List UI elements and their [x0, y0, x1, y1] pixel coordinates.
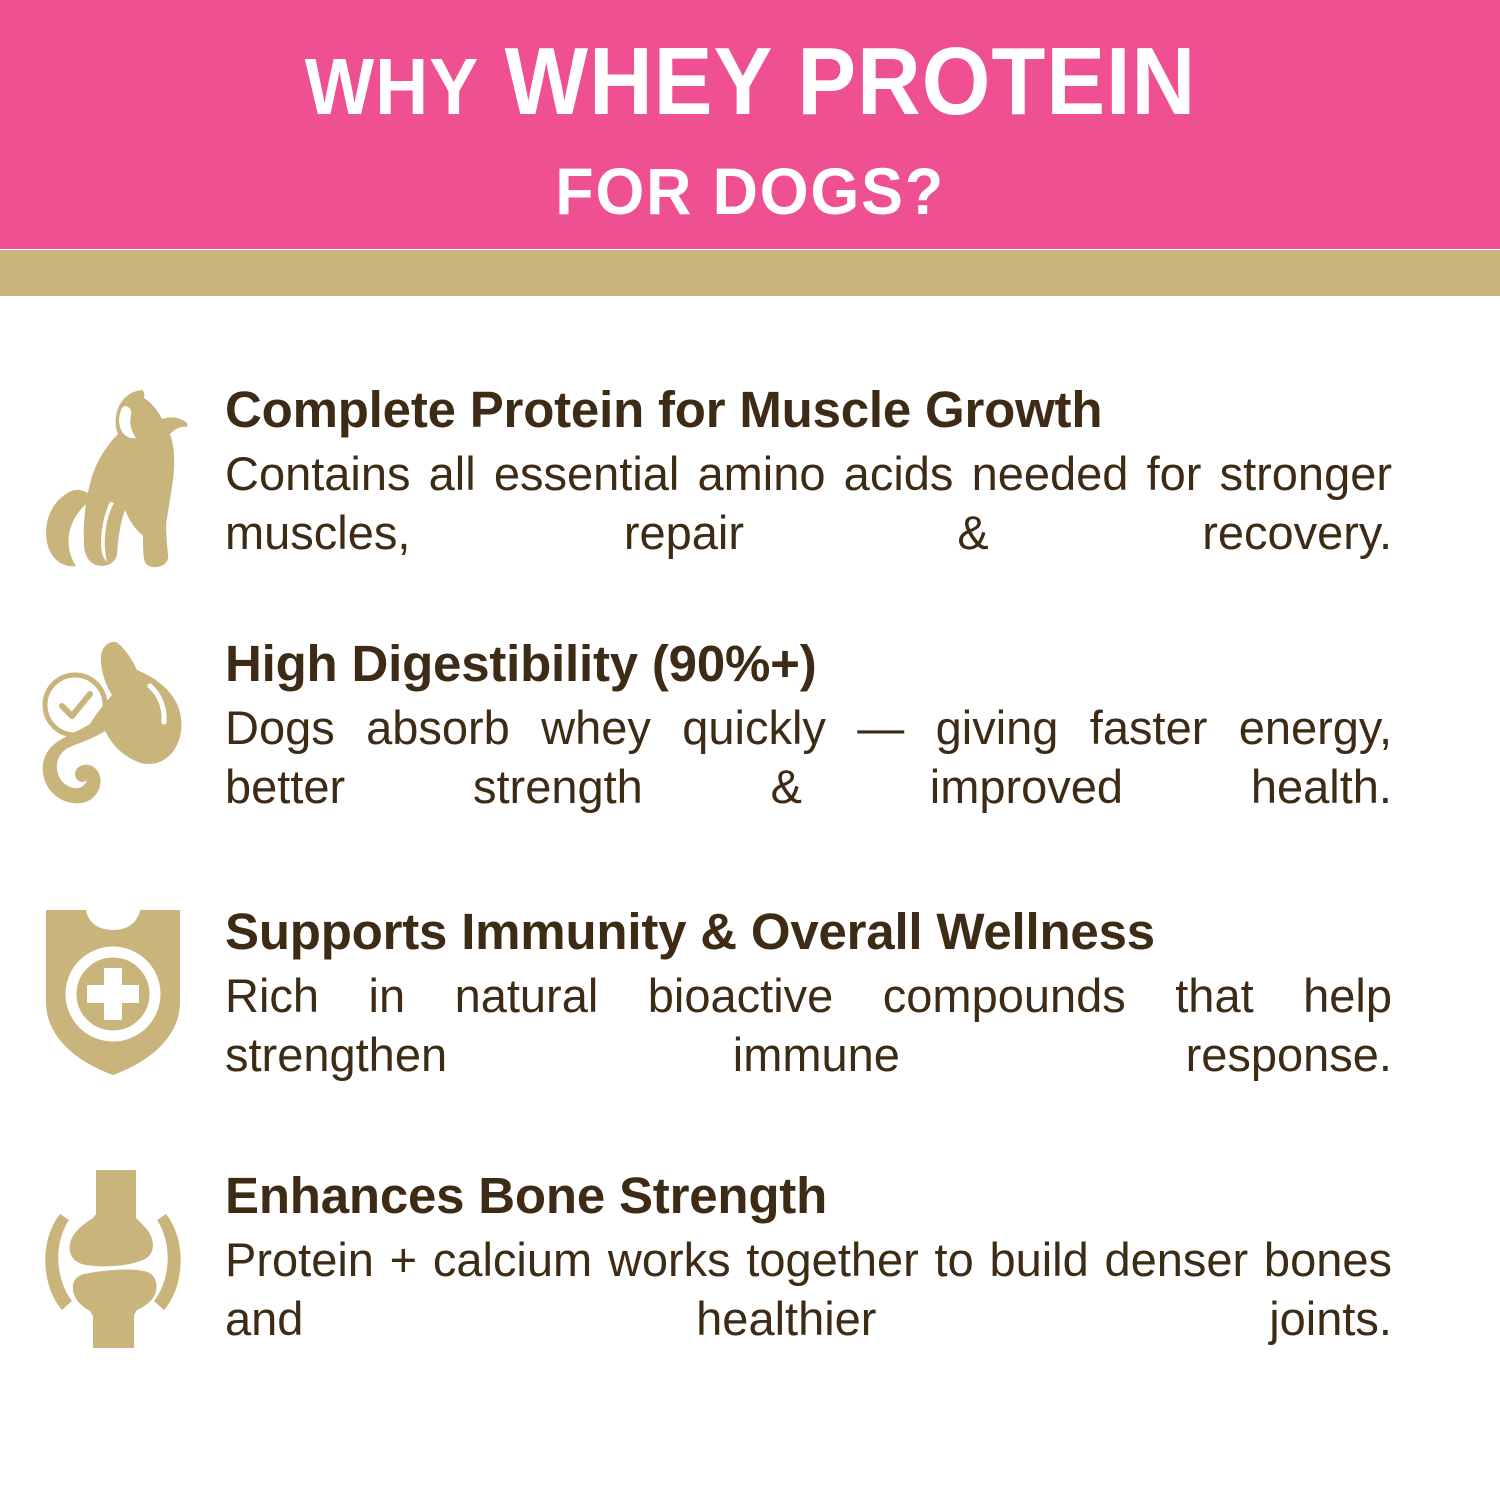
feature-title: High Digestibility (90%+): [225, 636, 1392, 691]
feature-description: Rich in natural bioactive compounds that…: [225, 966, 1392, 1144]
feature-title: Complete Protein for Muscle Growth: [225, 382, 1392, 437]
feature-text: High Digestibility (90%+) Dogs absorb wh…: [225, 636, 1440, 876]
feature-item: High Digestibility (90%+) Dogs absorb wh…: [0, 636, 1500, 876]
title-word-whey-protein: WHEY PROTEIN: [504, 28, 1196, 135]
shield-plus-icon: [38, 906, 188, 1078]
feature-description: Protein + calcium works together to buil…: [225, 1230, 1392, 1408]
feature-text: Supports Immunity & Overall Wellness Ric…: [225, 904, 1440, 1144]
title-word-why: WHY: [304, 42, 478, 131]
page-title-line-1: WHY WHEY PROTEIN: [304, 34, 1195, 130]
gold-divider-band: [0, 250, 1500, 296]
page-title-line-2: FOR DOGS?: [555, 158, 945, 224]
feature-icon-wrapper: [0, 904, 225, 1078]
feature-title: Supports Immunity & Overall Wellness: [225, 904, 1392, 959]
feature-item: Supports Immunity & Overall Wellness Ric…: [0, 904, 1500, 1144]
feature-text: Complete Protein for Muscle Growth Conta…: [225, 382, 1440, 622]
feature-icon-wrapper: [0, 1168, 225, 1348]
bone-joint-icon: [38, 1170, 188, 1348]
feature-description: Contains all essential amino acids neede…: [225, 444, 1392, 622]
feature-icon-wrapper: [0, 382, 225, 568]
header-banner: WHY WHEY PROTEIN FOR DOGS?: [0, 0, 1500, 249]
stomach-check-icon: [38, 638, 188, 818]
feature-text: Enhances Bone Strength Protein + calcium…: [225, 1168, 1440, 1408]
feature-title: Enhances Bone Strength: [225, 1168, 1392, 1223]
feature-description: Dogs absorb whey quickly — giving faster…: [225, 698, 1392, 876]
feature-item: Complete Protein for Muscle Growth Conta…: [0, 382, 1500, 622]
feature-item: Enhances Bone Strength Protein + calcium…: [0, 1168, 1500, 1408]
sitting-dog-icon: [38, 384, 188, 568]
feature-icon-wrapper: [0, 636, 225, 818]
features-list: Complete Protein for Muscle Growth Conta…: [0, 296, 1500, 1500]
